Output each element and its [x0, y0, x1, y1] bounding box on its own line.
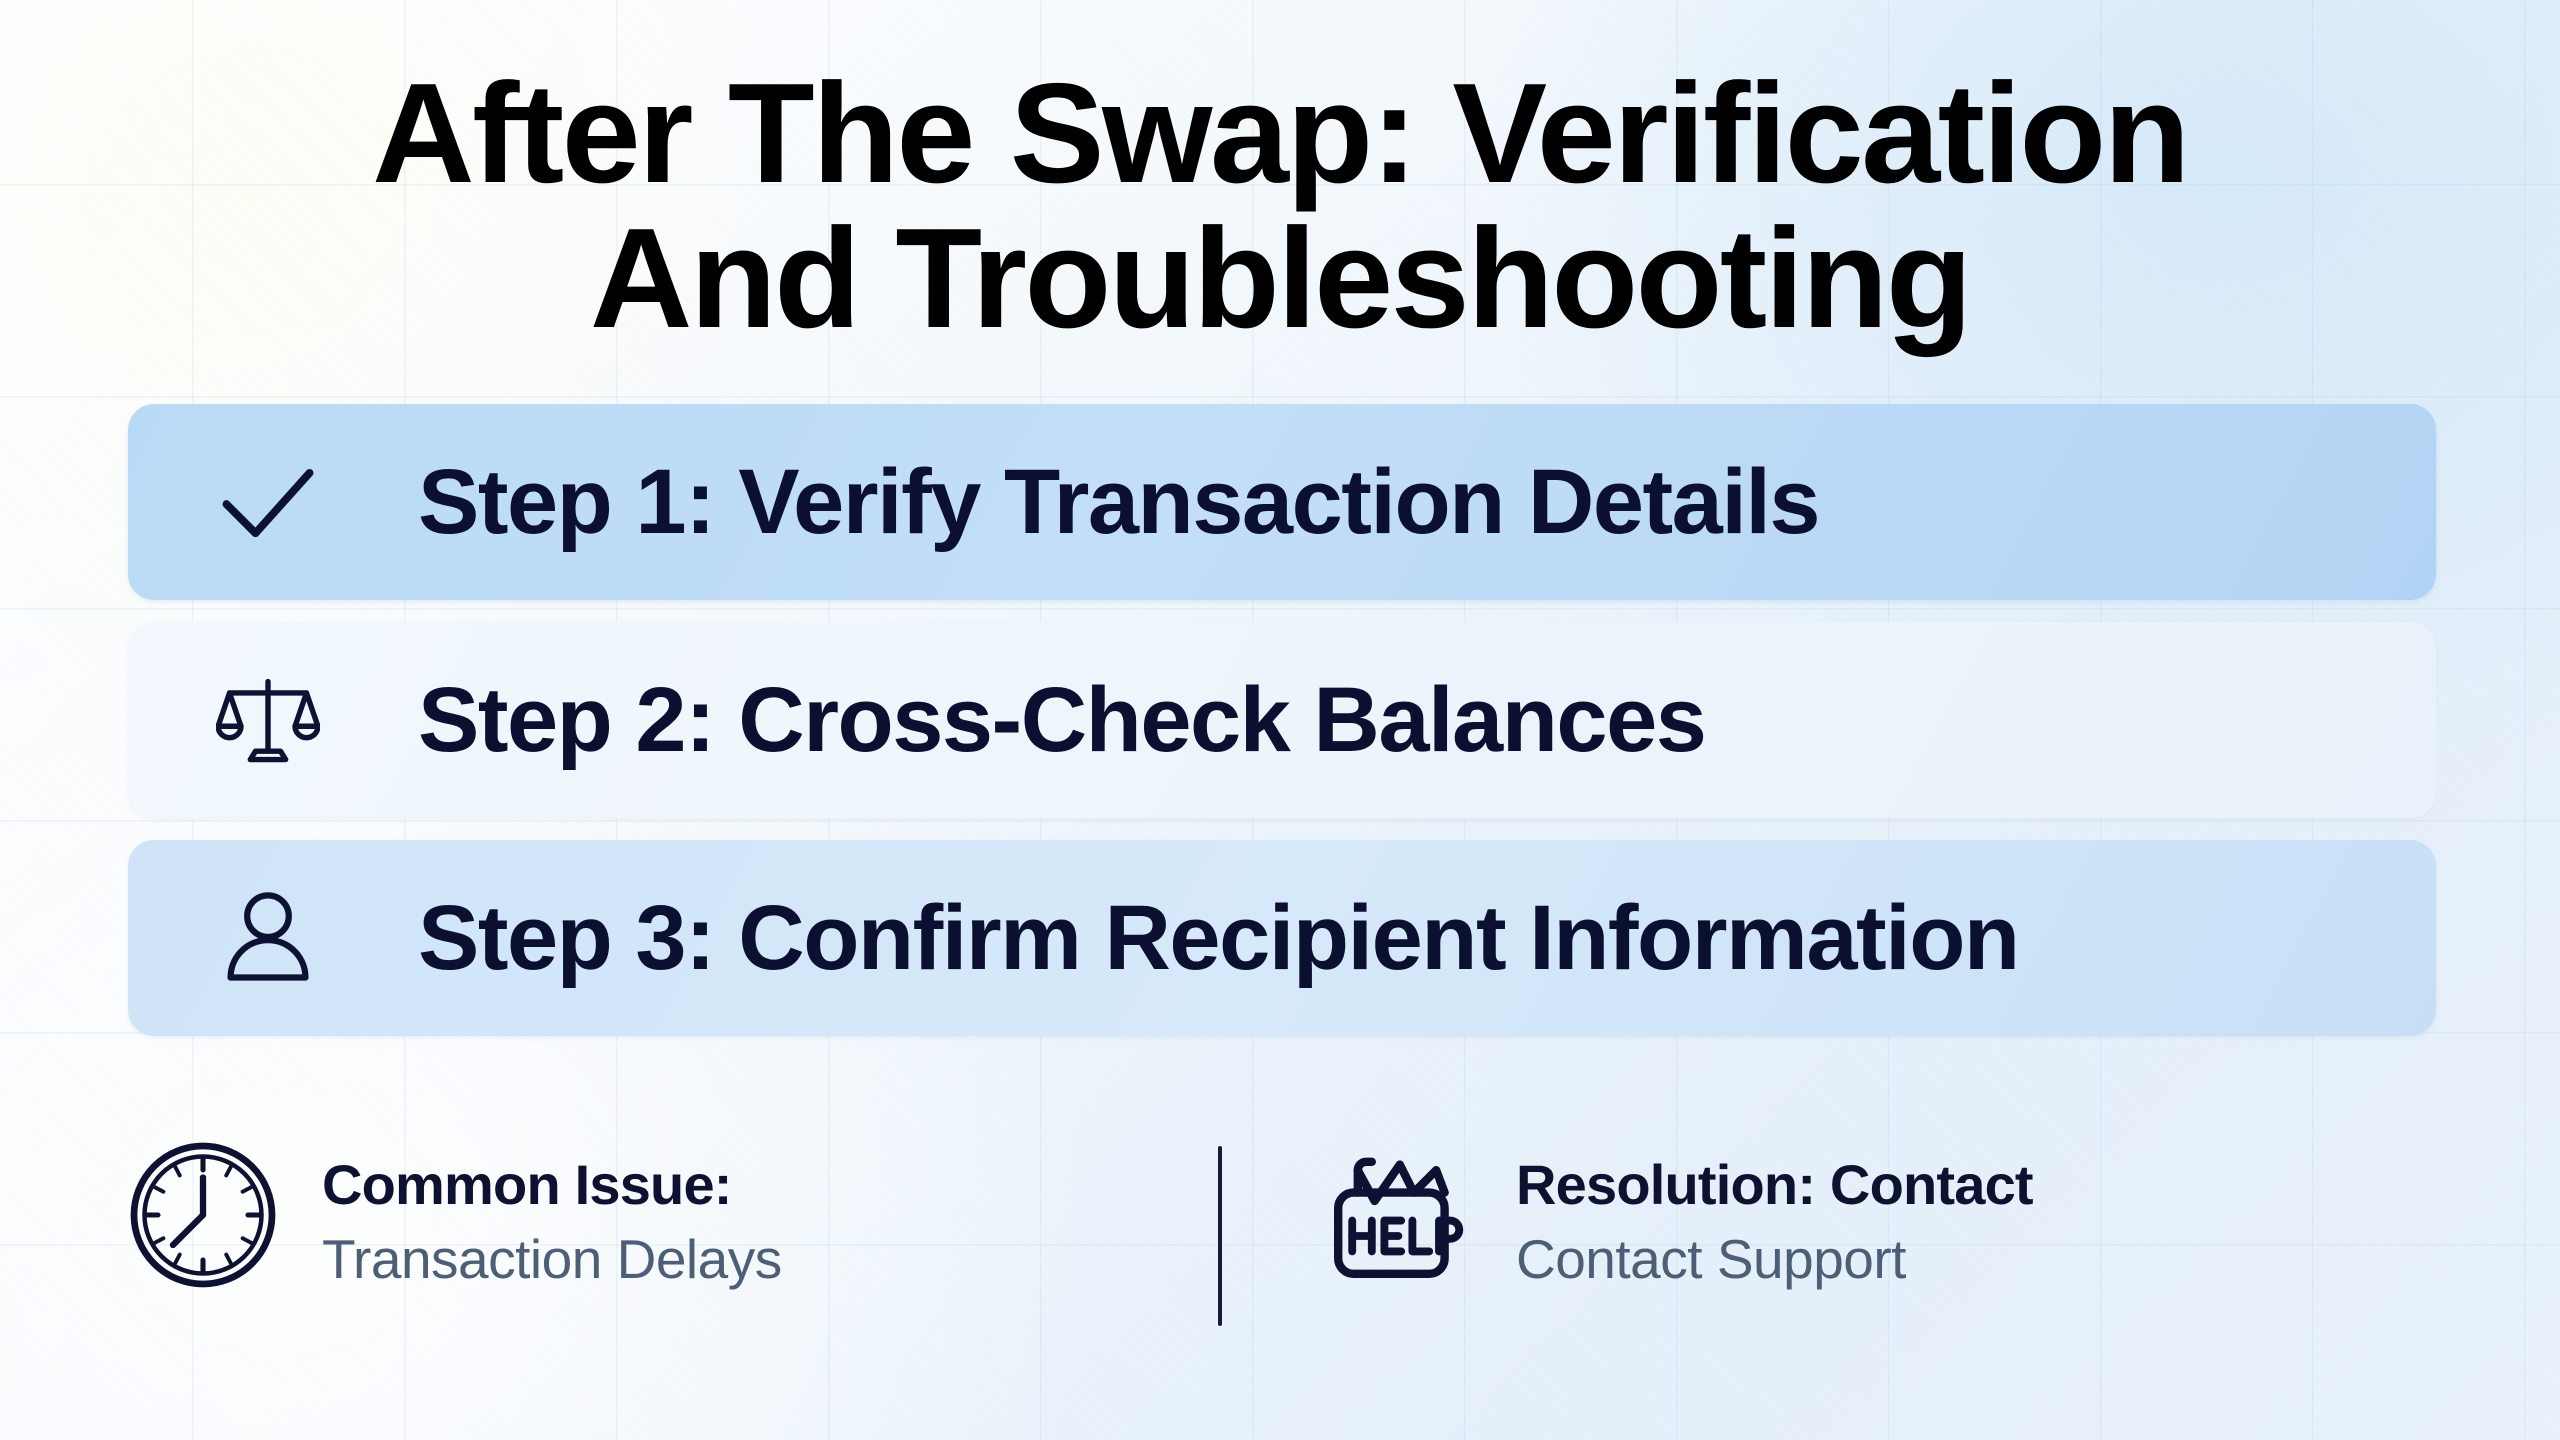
slide-content: After The Swap: Verification And Trouble…	[0, 0, 2560, 1440]
step-card-1-label: Step 1: Verify Transaction Details	[418, 450, 1819, 555]
resolution-block: Resolution: Contact Contact Support	[1222, 1120, 2033, 1293]
step-list: Step 1: Verify Transaction Details	[128, 404, 2436, 1058]
help-sign-icon	[1322, 1140, 1472, 1290]
person-icon	[210, 880, 326, 996]
step-card-3-label: Step 3: Confirm Recipient Information	[418, 886, 2019, 991]
common-issue-block: Common Issue: Transaction Delays	[128, 1120, 1218, 1293]
check-icon	[210, 444, 326, 560]
step-card-1[interactable]: Step 1: Verify Transaction Details	[128, 404, 2436, 600]
common-issue-subtext: Transaction Delays	[322, 1226, 782, 1293]
common-issue-text: Common Issue: Transaction Delays	[322, 1140, 782, 1293]
page-title-line-2: And Troubleshooting	[0, 207, 2560, 352]
page-title: After The Swap: Verification And Trouble…	[0, 62, 2560, 352]
step-card-2-label: Step 2: Cross-Check Balances	[418, 668, 1705, 773]
footer-row: Common Issue: Transaction Delays	[128, 1120, 2436, 1340]
common-issue-heading: Common Issue:	[322, 1152, 782, 1218]
resolution-heading: Resolution: Contact	[1516, 1152, 2033, 1218]
clock-icon	[128, 1140, 278, 1290]
slide-root: After The Swap: Verification And Trouble…	[0, 0, 2560, 1440]
step-card-2[interactable]: Step 2: Cross-Check Balances	[128, 622, 2436, 818]
resolution-subtext: Contact Support	[1516, 1226, 2033, 1293]
step-card-3[interactable]: Step 3: Confirm Recipient Information	[128, 840, 2436, 1036]
page-title-line-1: After The Swap: Verification	[0, 62, 2560, 207]
scales-icon	[210, 662, 326, 778]
resolution-text: Resolution: Contact Contact Support	[1516, 1140, 2033, 1293]
